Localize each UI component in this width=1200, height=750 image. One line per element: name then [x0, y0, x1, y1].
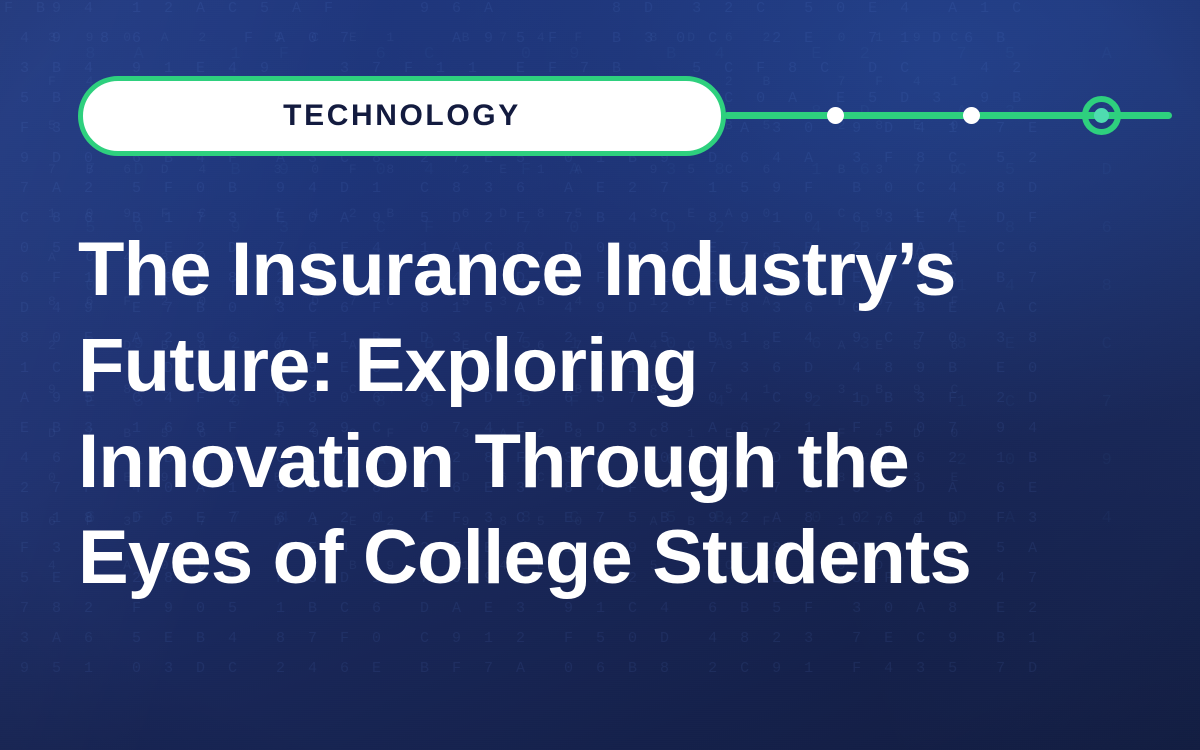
connector-endpoint-icon [1082, 96, 1121, 135]
headline-line-2: Future: Exploring [78, 318, 1088, 414]
headline-line-3: Innovation Through the [78, 414, 1088, 510]
connector-dot-2 [963, 107, 980, 124]
connector-endpoint-core [1094, 108, 1109, 123]
connector-dot-1 [827, 107, 844, 124]
headline-line-4: Eyes of College Students [78, 510, 1088, 606]
eyebrow-row: TECHNOLOGY [78, 76, 1128, 156]
page-title: The Insurance Industry’s Future: Explori… [78, 222, 1088, 606]
category-badge[interactable]: TECHNOLOGY [78, 76, 726, 156]
headline-line-1: The Insurance Industry’s [78, 222, 1088, 318]
category-badge-label: TECHNOLOGY [283, 101, 521, 131]
hero-banner: 7F B9 4 1 2 A C 5 A F 9 6 A 8 D 3 2 C 5 … [0, 0, 1200, 750]
